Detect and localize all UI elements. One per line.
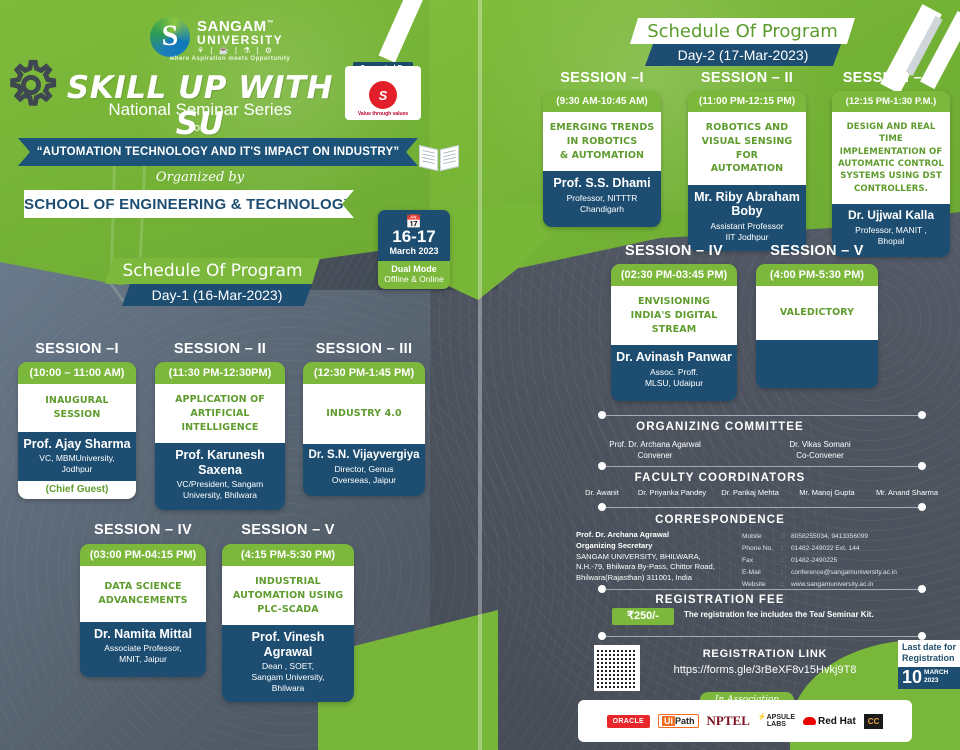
session-speaker-role: Assoc. Proff. MLSU, Udaipur [615, 367, 733, 389]
registration-fee-heading: REGISTRATION FEE [480, 594, 960, 606]
address-line: SANGAM UNIVERSITY, BHILWARA, [576, 552, 715, 563]
correspondence-contacts: Mobile:8058255034, 9413356099 Phone No.:… [740, 530, 905, 592]
day2-date-heading: Day-2 (17-Mar-2023) [645, 44, 841, 66]
session-speaker-role: VC, MBMUniversity, Jodhpur [22, 453, 132, 475]
session-topic: EMERGING TRENDS IN ROBOTICS & AUTOMATION [543, 112, 661, 171]
session-speaker: Prof. Karunesh Saxena [159, 448, 281, 477]
contact-row: Mobile:8058255034, 9413356099 [742, 532, 903, 542]
university-tagline: where Aspiration meets Opportunity [150, 56, 310, 62]
day2-session-2-card: (11:00 PM-12:15 PM) ROBOTICS AND VISUAL … [688, 91, 806, 251]
uipath-logo: UiPath [658, 714, 699, 728]
session-topic: ROBOTICS AND VISUAL SENSING FOR AUTOMATI… [688, 112, 806, 185]
organized-by-label: Organized by [40, 170, 360, 185]
contact-row: Fax:01482-2490225 [742, 556, 903, 566]
correspondence-designation: Organizing Secretary [576, 541, 715, 552]
session-topic: INDUSTRIAL AUTOMATION USING PLC-SCADA [222, 566, 354, 625]
seminar-poster: SANGAM™ UNIVERSITY ⚘ | ☕ | ⚗ | ⚙ where A… [0, 0, 960, 750]
day1-session-4-label: SESSION – IV [80, 522, 206, 538]
session-speaker: Prof. S.S. Dhami [547, 176, 657, 190]
session-speaker: Mr. Riby Abraham Boby [692, 190, 802, 219]
section-rule [606, 466, 920, 467]
last-date-badge: Last date for Registration 10 MARCH 2023 [898, 640, 960, 689]
supported-by-card: S Value through values [345, 66, 421, 120]
session-time: (02:30 PM-03:45 PM) [611, 264, 737, 286]
sponsor-logo: S [369, 81, 397, 109]
seminar-theme-banner: “AUTOMATION TECHNOLOGY AND IT'S IMPACT O… [18, 138, 418, 166]
rule-dot-left [598, 462, 606, 470]
session-time: (03:00 PM-04:15 PM) [80, 544, 206, 566]
event-days: 16-17 [380, 228, 448, 246]
event-date-badge: 📅 16-17 March 2023 Dual Mode Offline & O… [378, 210, 450, 289]
member-role: Convener [565, 450, 745, 461]
sangam-logo-mark [150, 17, 190, 57]
session-topic: DATA SCIENCE ADVANCEMENTS [80, 566, 206, 622]
contact-row: E-Mail:conference@sangamuniversity.ac.in [742, 568, 903, 578]
session-speaker-role: Associate Professor, MNIT, Jaipur [84, 643, 202, 665]
nptel-logo: NPTEL [707, 713, 750, 729]
rule-dot-right [918, 585, 926, 593]
session-time: (11:30 PM-12:30PM) [155, 362, 285, 384]
contact-value-email[interactable]: conference@sangamuniversity.ac.in [791, 568, 903, 578]
page-subtitle: National Seminar Series [40, 100, 360, 120]
rule-dot-left [598, 585, 606, 593]
rule-dot-right [918, 462, 926, 470]
correspondence-heading: CORRESPONDENCE [480, 514, 960, 526]
event-mode: Dual Mode [380, 264, 448, 274]
on-connector: on [40, 122, 360, 134]
university-icon-row: ⚘ | ☕ | ⚗ | ⚙ [197, 47, 283, 55]
session-speaker: Dr. Ujjwal Kalla [836, 209, 946, 223]
section-rule [606, 507, 920, 508]
day1-session-1-card: (10:00 – 11:00 AM) INAUGURAL SESSION Pro… [18, 362, 136, 499]
registration-link-url[interactable]: https://forms.gle/3rBeXF8v15Hvkj9T8 [620, 664, 910, 676]
day2-session-1-card: (9:30 AM-10:45 AM) EMERGING TRENDS IN RO… [543, 91, 661, 227]
event-mode-sub: Offline & Online [380, 274, 448, 284]
registration-fee-amount: ₹250/- [612, 608, 674, 625]
rule-dot-right [918, 632, 926, 640]
contact-value: 8058255034, 9413356099 [791, 532, 903, 542]
correspondence-address: Prof. Dr. Archana Agrawal Organizing Sec… [576, 530, 715, 584]
address-line: N.H.-79, Bhilwara By-Pass, Chittor Road, [576, 562, 715, 573]
redhat-logo: Red Hat [803, 716, 856, 727]
last-date-line2: Registration [902, 653, 960, 664]
organizing-committee-heading: ORGANIZING COMMITTEE [480, 421, 960, 433]
session-time: (4:00 PM-5:30 PM) [756, 264, 878, 286]
panel-divider [478, 0, 482, 750]
day1-session-5-label: SESSION – V [222, 522, 354, 538]
day1-session-5-card: (4:15 PM-5:30 PM) INDUSTRIAL AUTOMATION … [222, 544, 354, 702]
sponsor-caption: Value through values [358, 111, 408, 117]
session-topic: INDUSTRY 4.0 [303, 384, 425, 444]
day2-session-1-label: SESSION –I [543, 70, 661, 86]
day1-session-1-label: SESSION –I [18, 341, 136, 357]
day1-date-heading: Day-1 (16-Mar-2023) [122, 284, 312, 306]
day2-schedule-heading: Schedule Of Program [630, 18, 855, 44]
last-date-year: 2023 [924, 677, 948, 684]
day1-session-4-card: (03:00 PM-04:15 PM) DATA SCIENCE ADVANCE… [80, 544, 206, 677]
open-book-icon [418, 140, 460, 172]
registration-fee-note: The registration fee includes the Tea/ S… [684, 610, 874, 619]
session-time: (11:00 PM-12:15 PM) [688, 91, 806, 112]
session-speaker-role: VC/President, Sangam University, Bhilwar… [159, 479, 281, 501]
session-speaker: Dr. S.N. Vijayvergiya [307, 449, 421, 462]
day2-session-3-label: SESSION – III [832, 70, 950, 86]
day1-session-2-label: SESSION – II [155, 341, 285, 357]
last-date-day: 10 [902, 668, 922, 686]
last-date-month: MARCH [924, 669, 948, 676]
day2-session-5-card: (4:00 PM-5:30 PM) VALEDICTORY [756, 264, 878, 388]
session-speaker-role: Professor, NITTTR Chandigarh [547, 193, 657, 215]
rule-dot-right [918, 503, 926, 511]
session-time: (12:30 PM-1:45 PM) [303, 362, 425, 384]
faculty-coordinators-heading: FACULTY COORDINATORS [480, 472, 960, 484]
apsule-labs-logo: ⚡APSULELABS [758, 714, 795, 728]
session-speaker: Dr. Namita Mittal [84, 627, 202, 641]
day1-schedule-heading: Schedule Of Program [105, 258, 320, 284]
day2-session-4-label: SESSION – IV [611, 243, 737, 259]
rule-dot-left [598, 411, 606, 419]
session-speaker: Prof. Vinesh Agrawal [226, 630, 350, 659]
session-chief-guest: (Chief Guest) [18, 481, 136, 499]
day1-session-3-card: (12:30 PM-1:45 PM) INDUSTRY 4.0 Dr. S.N.… [303, 362, 425, 496]
contact-row: Phone No.:01482-249022 Ext. 144 [742, 544, 903, 554]
session-speaker-role: Assistant Professor IIT Jodhpur [692, 221, 802, 243]
rule-dot-left [598, 632, 606, 640]
member-name: Dr. Vikas Somani [730, 439, 910, 450]
address-line: Bhilwara(Rajasthan) 311001, India [576, 573, 715, 584]
session-time: (9:30 AM-10:45 AM) [543, 91, 661, 112]
session-speaker: Dr. Avinash Panwar [615, 350, 733, 364]
section-rule [606, 636, 920, 637]
day2-session-2-label: SESSION – II [688, 70, 806, 86]
contact-label: E-Mail [742, 568, 779, 578]
member-name: Prof. Dr. Archana Agarwal [565, 439, 745, 450]
section-rule [606, 415, 920, 416]
session-topic: VALEDICTORY [756, 286, 878, 340]
session-topic: ENVISIONING INDIA'S DIGITAL STREAM [611, 286, 737, 345]
day2-session-5-label: SESSION – V [756, 243, 878, 259]
session-topic: INAUGURAL SESSION [18, 384, 136, 432]
oracle-logo: ORACLE [607, 715, 650, 728]
contact-label: Mobile [742, 532, 779, 542]
last-date-line1: Last date for [902, 642, 960, 653]
rule-dot-right [918, 411, 926, 419]
organizing-committee-member: Dr. Vikas Somani Co-Convener [730, 439, 910, 461]
school-name-banner: SCHOOL OF ENGINEERING & TECHNOLOGY [24, 190, 354, 218]
contact-label: Fax [742, 556, 779, 566]
section-rule [606, 589, 920, 590]
day2-session-4-card: (02:30 PM-03:45 PM) ENVISIONING INDIA'S … [611, 264, 737, 401]
partner-logos-strip: ORACLE UiPath NPTEL ⚡APSULELABS Red Hat … [578, 700, 912, 742]
trademark-symbol: ™ [267, 20, 275, 27]
session-time: (12:15 PM-1:30 P.M.) [832, 91, 950, 112]
contact-label: Phone No. [742, 544, 779, 554]
contact-value: 01482-249022 Ext. 144 [791, 544, 903, 554]
session-speaker-empty [756, 340, 878, 388]
faculty-coordinator-name: Mr. Anand Sharma [858, 488, 956, 497]
organizing-committee-member: Prof. Dr. Archana Agarwal Convener [565, 439, 745, 461]
session-speaker-role: Director, Genus Overseas, Jaipur [307, 464, 421, 486]
rule-dot-left [598, 503, 606, 511]
event-month: March 2023 [380, 246, 448, 256]
session-time: (4:15 PM-5:30 PM) [222, 544, 354, 566]
member-role: Co-Convener [730, 450, 910, 461]
registration-link-heading: REGISTRATION LINK [620, 648, 910, 660]
session-topic: DESIGN AND REAL TIME IMPLEMENTATION OF A… [832, 112, 950, 204]
day1-session-2-card: (11:30 PM-12:30PM) APPLICATION OF ARTIFI… [155, 362, 285, 510]
university-subname: UNIVERSITY [197, 34, 283, 46]
correspondence-name: Prof. Dr. Archana Agrawal [576, 530, 715, 541]
session-topic: APPLICATION OF ARTIFICIAL INTELLIGENCE [155, 384, 285, 443]
day2-session-3-card: (12:15 PM-1:30 P.M.) DESIGN AND REAL TIM… [832, 91, 950, 257]
day1-session-3-label: SESSION – III [303, 341, 425, 357]
session-time: (10:00 – 11:00 AM) [18, 362, 136, 384]
session-speaker-role: Dean , SOET, Sangam University, Bhilwara [226, 661, 350, 694]
session-speaker: Prof. Ajay Sharma [22, 437, 132, 451]
cc-logo: CC [864, 714, 884, 729]
contact-value: 01482-2490225 [791, 556, 903, 566]
